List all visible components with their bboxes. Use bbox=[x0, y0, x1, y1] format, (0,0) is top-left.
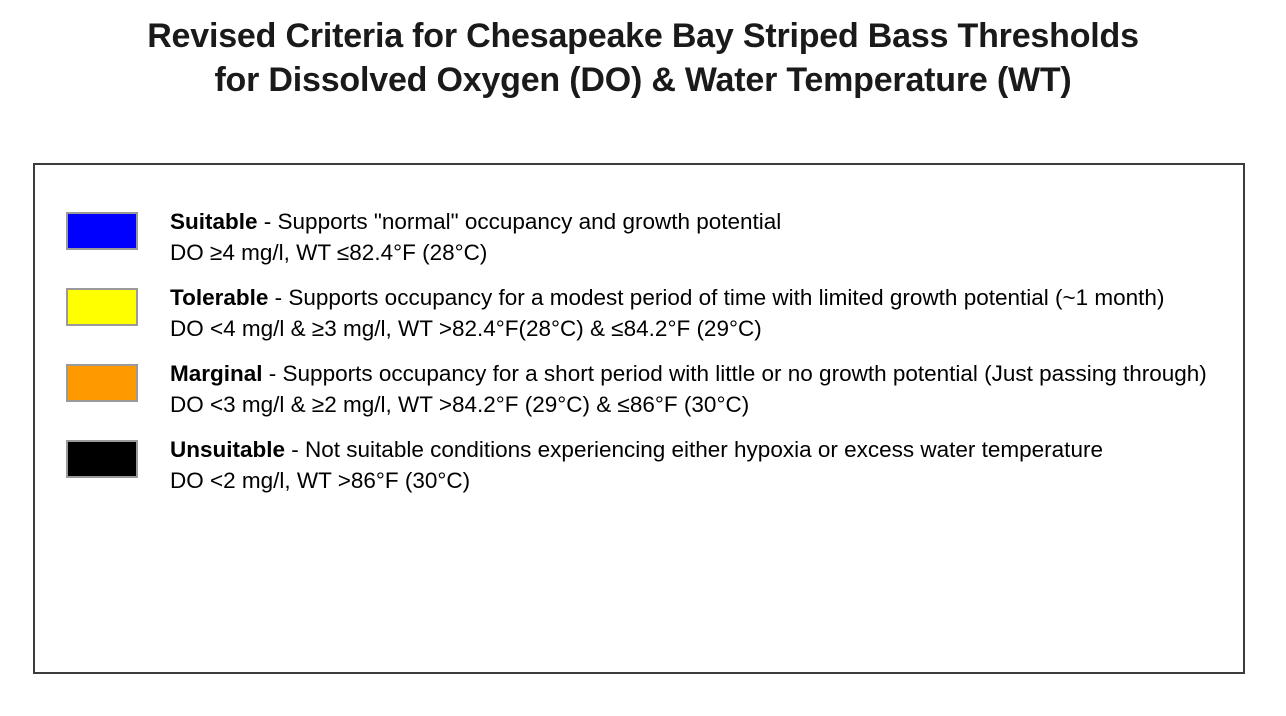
legend-thresholds-unsuitable: DO <2 mg/l, WT >86°F (30°C) bbox=[170, 465, 1226, 496]
legend-description-marginal: Supports occupancy for a short period wi… bbox=[283, 361, 1207, 386]
legend-separator-suitable: - bbox=[258, 209, 278, 234]
legend-entry-text-tolerable: Tolerable - Supports occupancy for a mod… bbox=[170, 282, 1226, 344]
legend-entry-description-marginal: Marginal - Supports occupancy for a shor… bbox=[170, 358, 1226, 389]
color-swatch-unsuitable bbox=[66, 440, 138, 478]
color-swatch-suitable bbox=[66, 212, 138, 250]
legend-separator-marginal: - bbox=[263, 361, 283, 386]
legend-entry-text-suitable: Suitable - Supports "normal" occupancy a… bbox=[170, 206, 1226, 268]
legend-entry-description-suitable: Suitable - Supports "normal" occupancy a… bbox=[170, 206, 1226, 237]
legend-term-suitable: Suitable bbox=[170, 209, 258, 234]
legend-thresholds-tolerable: DO <4 mg/l & ≥3 mg/l, WT >82.4°F(28°C) &… bbox=[170, 313, 1226, 344]
legend-entry-description-tolerable: Tolerable - Supports occupancy for a mod… bbox=[170, 282, 1226, 313]
legend-term-unsuitable: Unsuitable bbox=[170, 437, 285, 462]
legend-list: Suitable - Supports "normal" occupancy a… bbox=[66, 206, 1226, 496]
legend-entry-tolerable: Tolerable - Supports occupancy for a mod… bbox=[66, 282, 1226, 344]
legend-description-tolerable: Supports occupancy for a modest period o… bbox=[288, 285, 1164, 310]
legend-separator-unsuitable: - bbox=[285, 437, 305, 462]
legend-entry-text-unsuitable: Unsuitable - Not suitable conditions exp… bbox=[170, 434, 1226, 496]
legend-term-marginal: Marginal bbox=[170, 361, 263, 386]
legend-description-unsuitable: Not suitable conditions experiencing eit… bbox=[305, 437, 1103, 462]
legend-entry-description-unsuitable: Unsuitable - Not suitable conditions exp… bbox=[170, 434, 1226, 465]
legend-entry-suitable: Suitable - Supports "normal" occupancy a… bbox=[66, 206, 1226, 268]
legend-entry-unsuitable: Unsuitable - Not suitable conditions exp… bbox=[66, 434, 1226, 496]
legend-panel: Suitable - Supports "normal" occupancy a… bbox=[33, 163, 1245, 674]
legend-separator-tolerable: - bbox=[268, 285, 288, 310]
page-title: Revised Criteria for Chesapeake Bay Stri… bbox=[0, 14, 1286, 102]
legend-description-suitable: Supports "normal" occupancy and growth p… bbox=[278, 209, 782, 234]
legend-thresholds-marginal: DO <3 mg/l & ≥2 mg/l, WT >84.2°F (29°C) … bbox=[170, 389, 1226, 420]
legend-entry-text-marginal: Marginal - Supports occupancy for a shor… bbox=[170, 358, 1226, 420]
color-swatch-tolerable bbox=[66, 288, 138, 326]
page-title-line-1: Revised Criteria for Chesapeake Bay Stri… bbox=[0, 14, 1286, 58]
legend-term-tolerable: Tolerable bbox=[170, 285, 268, 310]
legend-entry-marginal: Marginal - Supports occupancy for a shor… bbox=[66, 358, 1226, 420]
color-swatch-marginal bbox=[66, 364, 138, 402]
legend-thresholds-suitable: DO ≥4 mg/l, WT ≤82.4°F (28°C) bbox=[170, 237, 1226, 268]
page-title-line-2: for Dissolved Oxygen (DO) & Water Temper… bbox=[0, 58, 1286, 102]
